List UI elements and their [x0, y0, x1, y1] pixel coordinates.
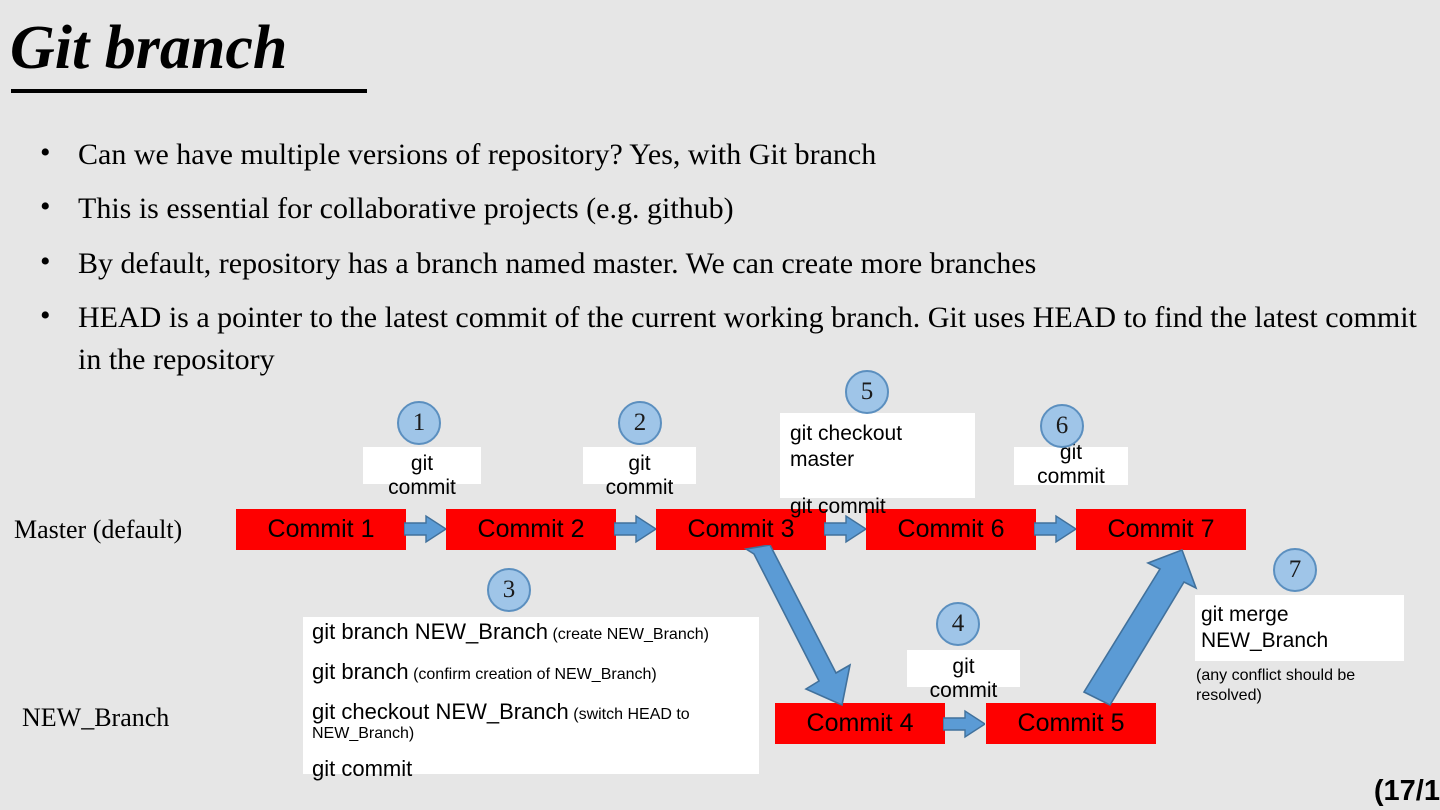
callout-4-line-1: git — [907, 655, 1020, 679]
list-item: • HEAD is a pointer to the latest commit… — [36, 297, 1426, 380]
callout-3-note-1: (create NEW_Branch) — [552, 626, 709, 643]
callout-text-3: git branch NEW_Branch (create NEW_Branch… — [312, 619, 757, 782]
callout-3-cmd-3: git checkout NEW_Branch — [312, 699, 569, 724]
step-badge-6: 6 — [1040, 404, 1084, 448]
bullet-marker-icon: • — [40, 241, 51, 282]
step-badge-5: 5 — [845, 370, 889, 414]
callout-text-6: git commit — [1014, 441, 1128, 488]
callout-text-2: git commit — [583, 452, 696, 499]
page-title: Git branch — [10, 16, 287, 81]
list-item: • By default, repository has a branch na… — [36, 243, 1426, 284]
step-badge-3: 3 — [487, 568, 531, 612]
callout-4-line-2: commit — [907, 679, 1020, 703]
callout-3-row-4: git commit — [312, 756, 757, 782]
callout-1-line-2: commit — [363, 476, 481, 500]
arrow-commit1-to-commit2-icon — [404, 514, 446, 544]
bullet-marker-icon: • — [40, 132, 51, 173]
commit-box-1[interactable]: Commit 1 — [236, 509, 406, 550]
callout-3-cmd-1: git branch NEW_Branch — [312, 619, 548, 644]
list-item-text: Can we have multiple versions of reposit… — [78, 138, 876, 171]
slide-canvas: Git branch • Can we have multiple versio… — [0, 0, 1440, 810]
callout-7-note: (any conflict should be resolved) — [1196, 666, 1376, 706]
list-item: • This is essential for collaborative pr… — [36, 188, 1426, 229]
branch-label-master: Master (default) — [14, 515, 182, 545]
bullet-list: • Can we have multiple versions of repos… — [36, 134, 1426, 393]
callout-3-cmd-2: git branch — [312, 659, 409, 684]
callout-1-line-1: git — [363, 452, 481, 476]
callout-text-7: git merge NEW_Branch — [1201, 602, 1406, 653]
step-badge-2: 2 — [618, 401, 662, 445]
callout-3-row-3: git checkout NEW_Branch (switch HEAD to … — [312, 699, 757, 743]
callout-7-line-1: git merge — [1201, 602, 1406, 628]
step-badge-7: 7 — [1273, 548, 1317, 592]
arrow-commit4-to-commit5-icon — [943, 709, 985, 739]
callout-text-4: git commit — [907, 655, 1020, 702]
callout-text-5: git checkout master git commit — [790, 421, 980, 520]
commit-box-7[interactable]: Commit 7 — [1076, 509, 1246, 550]
callout-5-spacer — [790, 472, 980, 494]
arrow-commit6-to-commit7-icon — [1034, 514, 1076, 544]
list-item: • Can we have multiple versions of repos… — [36, 134, 1426, 175]
callout-6-line-2: commit — [1014, 465, 1128, 489]
callout-5-line-3: git commit — [790, 494, 980, 520]
branch-label-new-branch: NEW_Branch — [22, 703, 169, 733]
callout-3-note-2: (confirm creation of NEW_Branch) — [413, 666, 657, 683]
list-item-text: This is essential for collaborative proj… — [78, 192, 734, 225]
callout-text-1: git commit — [363, 452, 481, 499]
callout-2-line-2: commit — [583, 476, 696, 500]
title-underline — [11, 89, 367, 93]
step-badge-4: 4 — [936, 602, 980, 646]
callout-3-row-2: git branch (confirm creation of NEW_Bran… — [312, 659, 757, 685]
callout-3-cmd-4: git commit — [312, 756, 412, 781]
commit-box-2[interactable]: Commit 2 — [446, 509, 616, 550]
callout-5-line-2: master — [790, 447, 980, 473]
step-badge-1: 1 — [397, 401, 441, 445]
arrow-commit2-to-commit3-icon — [614, 514, 656, 544]
arrow-merge-icon — [1070, 548, 1205, 708]
bullet-marker-icon: • — [40, 186, 51, 227]
callout-2-line-1: git — [583, 452, 696, 476]
callout-3-row-1: git branch NEW_Branch (create NEW_Branch… — [312, 619, 757, 645]
callout-5-line-1: git checkout — [790, 421, 980, 447]
list-item-text: HEAD is a pointer to the latest commit o… — [78, 301, 1417, 375]
bullet-marker-icon: • — [40, 295, 51, 336]
list-item-text: By default, repository has a branch name… — [78, 247, 1036, 280]
page-number: (17/1 — [1374, 775, 1440, 808]
commit-box-5[interactable]: Commit 5 — [986, 703, 1156, 744]
callout-7-line-2: NEW_Branch — [1201, 628, 1406, 654]
